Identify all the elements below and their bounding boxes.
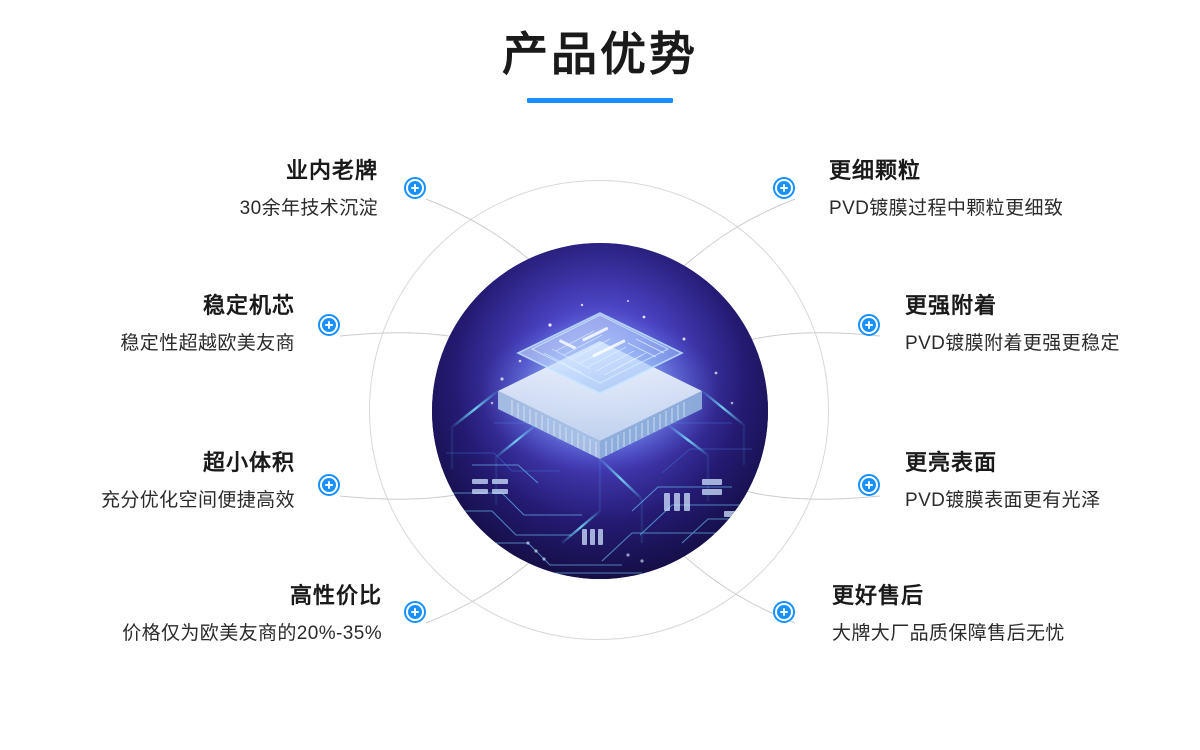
- marker-value-for-money[interactable]: [404, 601, 426, 623]
- feature-title: 高性价比: [122, 581, 382, 611]
- feature-label-finer-particles: 更细颗粒 PVD镀膜过程中颗粒更细致: [829, 156, 1063, 224]
- marker-brand-heritage[interactable]: [404, 177, 426, 199]
- feature-title: 更强附着: [905, 291, 1120, 321]
- plus-icon: [862, 318, 876, 332]
- plus-icon: [777, 181, 791, 195]
- feature-desc: PVD镀膜过程中颗粒更细致: [829, 194, 1063, 224]
- product-advantages-page: 产品优势: [0, 0, 1200, 750]
- plus-icon: [777, 605, 791, 619]
- marker-finer-particles[interactable]: [773, 177, 795, 199]
- feature-desc: 30余年技术沉淀: [240, 194, 378, 224]
- plus-icon: [322, 318, 336, 332]
- cpu-chip-illustration: [432, 243, 768, 579]
- feature-desc: 大牌大厂品质保障售后无忧: [832, 619, 1065, 649]
- feature-desc: 价格仅为欧美友商的20%-35%: [122, 619, 382, 649]
- plus-icon: [322, 478, 336, 492]
- plus-icon: [408, 605, 422, 619]
- marker-better-service[interactable]: [773, 601, 795, 623]
- feature-desc: PVD镀膜附着更强更稳定: [905, 329, 1120, 359]
- feature-desc: 充分优化空间便捷高效: [101, 486, 295, 516]
- feature-label-compact-size: 超小体积 充分优化空间便捷高效: [101, 448, 295, 516]
- plus-icon: [408, 181, 422, 195]
- page-header: 产品优势: [0, 26, 1200, 103]
- marker-stable-core[interactable]: [318, 314, 340, 336]
- feature-title: 更亮表面: [905, 448, 1100, 478]
- feature-title: 稳定机芯: [120, 291, 295, 321]
- feature-label-stronger-adhesion: 更强附着 PVD镀膜附着更强更稳定: [905, 291, 1120, 359]
- marker-brighter-surface[interactable]: [858, 474, 880, 496]
- feature-title: 业内老牌: [240, 156, 378, 186]
- feature-label-better-service: 更好售后 大牌大厂品质保障售后无忧: [832, 581, 1065, 649]
- feature-title: 超小体积: [101, 448, 295, 478]
- page-title: 产品优势: [0, 26, 1200, 84]
- feature-label-brand-heritage: 业内老牌 30余年技术沉淀: [240, 156, 378, 224]
- feature-label-stable-core: 稳定机芯 稳定性超越欧美友商: [120, 291, 295, 359]
- center-chip-image: [432, 243, 768, 579]
- radial-diagram: [369, 180, 831, 642]
- marker-stronger-adhesion[interactable]: [858, 314, 880, 336]
- plus-icon: [862, 478, 876, 492]
- feature-label-brighter-surface: 更亮表面 PVD镀膜表面更有光泽: [905, 448, 1100, 516]
- feature-label-value-for-money: 高性价比 价格仅为欧美友商的20%-35%: [122, 581, 382, 649]
- feature-desc: PVD镀膜表面更有光泽: [905, 486, 1100, 516]
- title-underline-accent: [527, 98, 673, 103]
- feature-title: 更细颗粒: [829, 156, 1063, 186]
- feature-title: 更好售后: [832, 581, 1065, 611]
- marker-compact-size[interactable]: [318, 474, 340, 496]
- feature-desc: 稳定性超越欧美友商: [120, 329, 295, 359]
